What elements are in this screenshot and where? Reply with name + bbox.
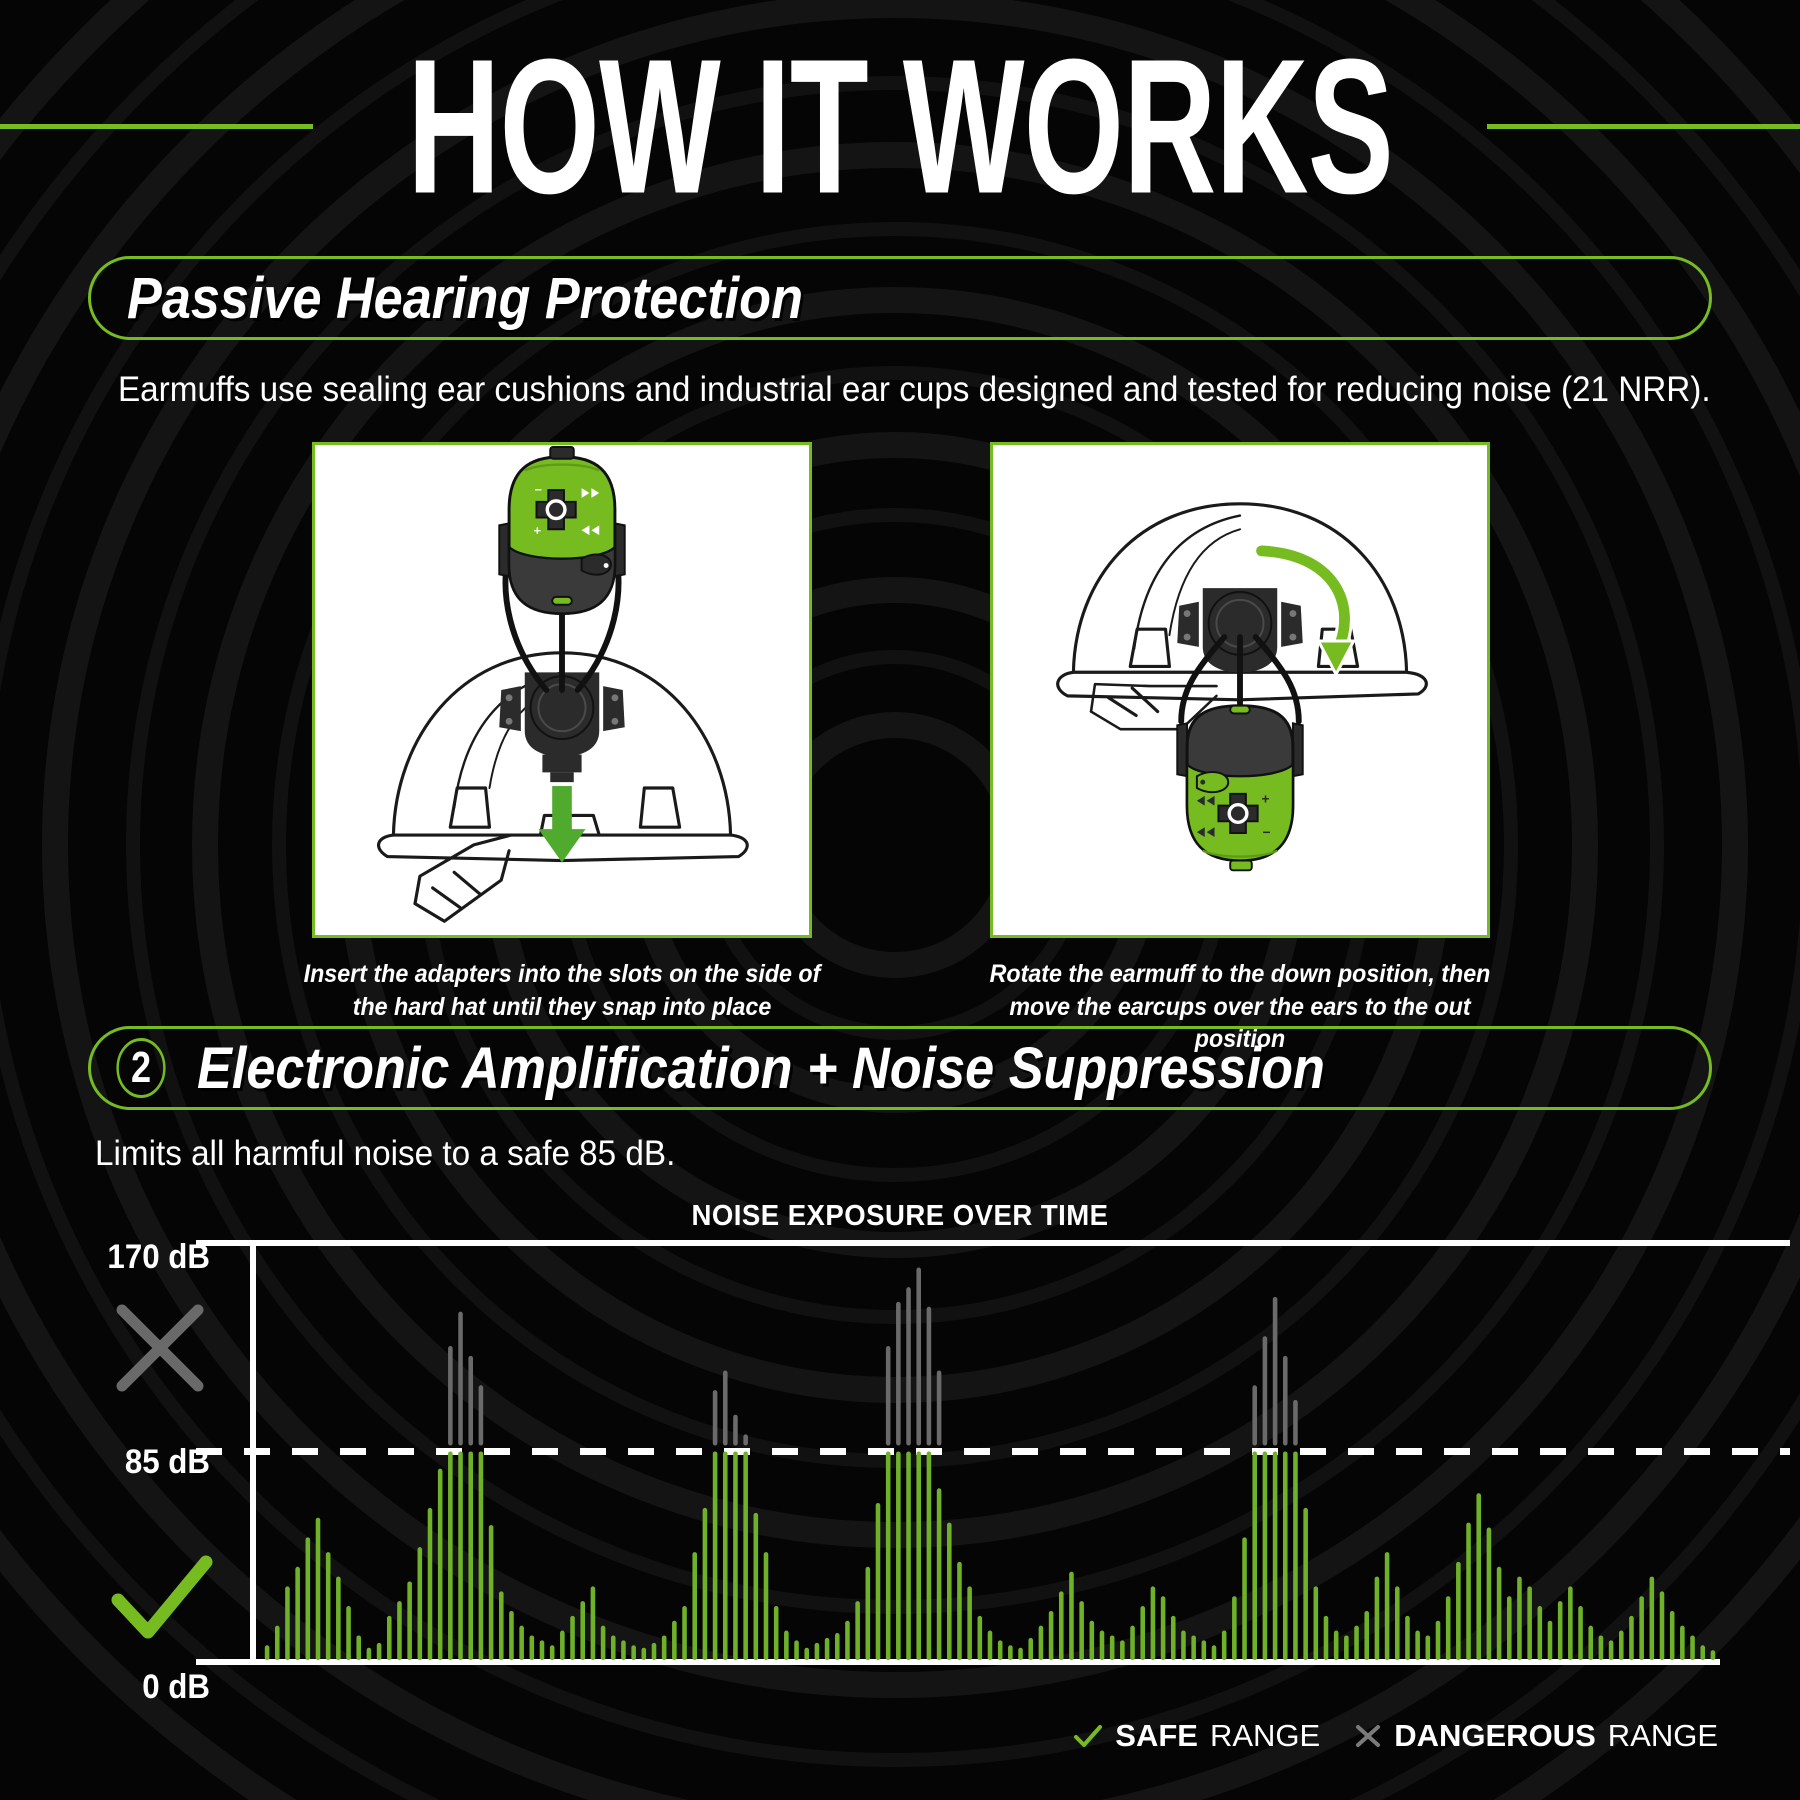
chart-bar-safe: [1283, 1452, 1288, 1661]
chart-bar-dangerous: [448, 1346, 453, 1445]
chart-bar-safe: [754, 1513, 759, 1660]
chart-bar-dangerous: [479, 1385, 484, 1445]
chart-bar-safe: [906, 1452, 911, 1661]
chart-bar-safe: [916, 1452, 921, 1661]
chart-bar-safe: [733, 1452, 738, 1661]
chart-bar-safe: [1680, 1626, 1685, 1660]
title-rule-left: [0, 124, 313, 129]
chart-bar-safe: [1700, 1645, 1705, 1660]
chart-bar-safe: [1517, 1577, 1522, 1660]
chart-bar-safe: [1385, 1552, 1390, 1660]
svg-text:−: −: [535, 482, 542, 497]
chart-bar-safe: [1130, 1626, 1135, 1660]
chart-title: NOISE EXPOSURE OVER TIME: [45, 1200, 1755, 1233]
chart-bar-dangerous: [1263, 1336, 1268, 1445]
chart-bar-safe: [428, 1508, 433, 1660]
legend-item-dangerous: DANGEROUS RANGE: [1354, 1718, 1718, 1754]
section-header-passive: Passive Hearing Protection: [88, 256, 1712, 340]
caption-line-1: Insert the adapters into the slots on th…: [302, 958, 823, 991]
section-title-electronic: Electronic Amplification + Noise Suppres…: [197, 1035, 1325, 1102]
chart-bar-safe: [1375, 1577, 1380, 1660]
chart-bar-dangerous: [713, 1390, 718, 1445]
chart-bar-safe: [1670, 1611, 1675, 1660]
chart-bar-safe: [1151, 1586, 1156, 1660]
chart-bar-safe: [1293, 1452, 1298, 1661]
chart-bar-safe: [479, 1452, 484, 1661]
chart-bar-safe: [672, 1621, 677, 1660]
noise-exposure-chart: [0, 1240, 1800, 1700]
chart-bar-dangerous: [733, 1415, 738, 1446]
chart-bar-safe: [835, 1633, 840, 1660]
chart-bar-safe: [957, 1562, 962, 1660]
x-icon: [1354, 1723, 1382, 1749]
chart-bar-safe: [1446, 1596, 1451, 1660]
chart-bar-safe: [1120, 1640, 1125, 1660]
chart-bar-dangerous: [723, 1371, 728, 1446]
chart-bar-safe: [876, 1503, 881, 1660]
chart-bar-safe: [723, 1452, 728, 1661]
chart-bar-safe: [804, 1648, 809, 1660]
illustration-rotate-earmuff: + −: [990, 442, 1490, 938]
chart-bar-safe: [1090, 1621, 1095, 1660]
illustration-caption-insert: Insert the adapters into the slots on th…: [302, 958, 823, 1023]
page-title: HOW IT WORKS: [402, 30, 1398, 222]
chart-bar-safe: [1619, 1631, 1624, 1660]
chart-bar-safe: [448, 1452, 453, 1661]
chart-bar-safe: [1497, 1567, 1502, 1660]
chart-bar-safe: [652, 1643, 657, 1660]
chart-bar-safe: [1344, 1635, 1349, 1660]
chart-bar-safe: [1629, 1616, 1634, 1660]
chart-bar-safe: [1273, 1452, 1278, 1661]
chart-bar-safe: [367, 1648, 372, 1660]
chart-bar-safe: [978, 1616, 983, 1660]
chart-bar-dangerous: [927, 1307, 932, 1446]
section-number-badge: 2: [116, 1038, 165, 1098]
chart-bar-safe: [1538, 1606, 1543, 1660]
chart-bar-safe: [1018, 1648, 1023, 1660]
chart-bar-safe: [316, 1518, 321, 1660]
chart-bar-safe: [1456, 1562, 1461, 1660]
chart-bar-dangerous: [937, 1371, 942, 1446]
chart-bar-dangerous: [743, 1434, 748, 1445]
chart-bar-safe: [540, 1640, 545, 1660]
chart-bar-safe: [458, 1452, 463, 1661]
chart-bar-safe: [1588, 1626, 1593, 1660]
chart-bar-safe: [1711, 1650, 1716, 1660]
chart-bar-dangerous: [1293, 1400, 1298, 1446]
legend-item-safe: SAFE RANGE: [1073, 1718, 1320, 1754]
chart-bar-dangerous: [468, 1356, 473, 1446]
chart-bar-safe: [1354, 1626, 1359, 1660]
chart-bar-safe: [1110, 1635, 1115, 1660]
chart-bar-safe: [1650, 1577, 1655, 1660]
chart-bar-safe: [265, 1645, 270, 1660]
chart-bar-safe: [1140, 1606, 1145, 1660]
chart-bar-safe: [1405, 1616, 1410, 1660]
chart-bar-safe: [591, 1586, 596, 1660]
section-header-electronic: 2 Electronic Amplification + Noise Suppr…: [88, 1026, 1712, 1110]
chart-bar-safe: [1660, 1591, 1665, 1660]
chart-bar-safe: [784, 1631, 789, 1660]
chart-bar-safe: [1028, 1638, 1033, 1660]
chart-bar-safe: [295, 1567, 300, 1660]
chart-bar-safe: [550, 1645, 555, 1660]
chart-bar-safe: [937, 1488, 942, 1660]
page-title-row: HOW IT WORKS: [0, 46, 1800, 206]
chart-bar-dangerous: [906, 1287, 911, 1445]
chart-bar-dangerous: [916, 1268, 921, 1446]
chart-bar-safe: [1161, 1596, 1166, 1660]
chart-bar-safe: [438, 1469, 443, 1660]
chart-bar-safe: [1303, 1508, 1308, 1660]
chart-bar-safe: [1639, 1596, 1644, 1660]
chart-bar-safe: [764, 1552, 769, 1660]
chart-bar-safe: [1690, 1635, 1695, 1660]
chart-bar-safe: [1426, 1635, 1431, 1660]
chart-bar-safe: [1436, 1621, 1441, 1660]
check-icon: [1073, 1723, 1103, 1749]
chart-bar-safe: [1171, 1616, 1176, 1660]
section-title-passive: Passive Hearing Protection: [127, 265, 803, 332]
legend-dangerous-strong: DANGEROUS: [1394, 1718, 1596, 1754]
legend-safe-strong: SAFE: [1115, 1718, 1198, 1754]
chart-bar-safe: [336, 1577, 341, 1660]
chart-bar-safe: [886, 1452, 891, 1661]
svg-text:+: +: [1262, 792, 1270, 807]
chart-bar-safe: [1599, 1635, 1604, 1660]
chart-bar-safe: [489, 1525, 494, 1660]
chart-bar-safe: [1079, 1601, 1084, 1660]
chart-bar-safe: [468, 1452, 473, 1661]
chart-bar-safe: [1548, 1621, 1553, 1660]
chart-bar-safe: [713, 1452, 718, 1661]
chart-bar-safe: [611, 1635, 616, 1660]
chart-bar-safe: [326, 1552, 331, 1660]
chart-bar-safe: [377, 1643, 382, 1660]
chart-bar-safe: [1202, 1640, 1207, 1660]
chart-bar-safe: [1507, 1596, 1512, 1660]
legend-safe-light: RANGE: [1210, 1718, 1320, 1754]
chart-bar-safe: [927, 1452, 932, 1661]
chart-bar-dangerous: [1252, 1385, 1257, 1445]
chart-bar-safe: [1252, 1452, 1257, 1661]
illustration-insert-adapters: − +: [312, 442, 812, 938]
title-rule-right: [1487, 124, 1800, 129]
legend-dangerous-light: RANGE: [1608, 1718, 1718, 1754]
chart-bar-safe: [1039, 1626, 1044, 1660]
chart-bar-safe: [418, 1547, 423, 1660]
chart-bar-safe: [306, 1537, 311, 1660]
chart-bar-safe: [631, 1645, 636, 1660]
chart-bar-safe: [499, 1591, 504, 1660]
section-body-passive: Earmuffs use sealing ear cushions and in…: [118, 370, 1711, 410]
chart-bar-safe: [1476, 1493, 1481, 1660]
chart-bar-safe: [825, 1638, 830, 1660]
chart-bar-safe: [845, 1621, 850, 1660]
chart-bar-safe: [1334, 1631, 1339, 1660]
chart-bar-safe: [1527, 1586, 1532, 1660]
chart-bar-safe: [967, 1586, 972, 1660]
section-body-electronic: Limits all harmful noise to a safe 85 dB…: [95, 1134, 675, 1174]
chart-bar-safe: [1578, 1606, 1583, 1660]
chart-bar-safe: [1222, 1631, 1227, 1660]
chart-bar-dangerous: [1273, 1297, 1278, 1446]
chart-bar-safe: [530, 1635, 535, 1660]
chart-bar-safe: [855, 1601, 860, 1660]
chart-bar-safe: [692, 1552, 697, 1660]
chart-bar-safe: [743, 1452, 748, 1661]
chart-bar-safe: [1466, 1523, 1471, 1660]
chart-bar-safe: [519, 1626, 524, 1660]
chart-bar-safe: [682, 1606, 687, 1660]
chart-bar-safe: [1395, 1586, 1400, 1660]
chart-bar-safe: [1558, 1601, 1563, 1660]
chart-bar-dangerous: [458, 1312, 463, 1446]
chart-bar-safe: [397, 1601, 402, 1660]
chart-bar-safe: [356, 1635, 361, 1660]
chart-bar-safe: [570, 1616, 575, 1660]
chart-bar-safe: [509, 1611, 514, 1660]
chart-bar-safe: [794, 1640, 799, 1660]
chart-bar-safe: [1415, 1631, 1420, 1660]
chart-bar-safe: [988, 1631, 993, 1660]
chart-bar-dangerous: [1283, 1356, 1288, 1446]
svg-text:+: +: [534, 523, 541, 538]
chart-bar-safe: [1212, 1645, 1217, 1660]
chart-bar-safe: [580, 1601, 585, 1660]
chart-bar-safe: [1069, 1572, 1074, 1660]
chart-bar-safe: [1609, 1640, 1614, 1660]
chart-bar-safe: [703, 1508, 708, 1660]
chart-bar-safe: [662, 1635, 667, 1660]
chart-bar-safe: [387, 1616, 392, 1660]
chart-bar-safe: [774, 1606, 779, 1660]
chart-bar-safe: [346, 1606, 351, 1660]
chart-bar-safe: [560, 1631, 565, 1660]
chart-bar-safe: [1059, 1591, 1064, 1660]
chart-bar-safe: [1181, 1631, 1186, 1660]
chart-bar-safe: [1232, 1596, 1237, 1660]
chart-bar-safe: [1242, 1537, 1247, 1660]
chart-bar-safe: [947, 1523, 952, 1660]
chart-bar-safe: [601, 1626, 606, 1660]
chart-bar-safe: [1364, 1611, 1369, 1660]
chart-bar-safe: [815, 1643, 820, 1660]
caption-line-2: the hard hat until they snap into place: [302, 991, 823, 1024]
chart-bar-safe: [896, 1452, 901, 1661]
chart-bar-safe: [275, 1626, 280, 1660]
chart-bar-safe: [1487, 1528, 1492, 1660]
chart-bar-safe: [1100, 1631, 1105, 1660]
chart-bar-safe: [1324, 1616, 1329, 1660]
chart-bar-safe: [285, 1586, 290, 1660]
chart-bar-dangerous: [896, 1302, 901, 1446]
chart-bar-safe: [407, 1582, 412, 1660]
chart-bar-safe: [1568, 1586, 1573, 1660]
chart-bar-safe: [642, 1648, 647, 1660]
chart-bar-safe: [1314, 1586, 1319, 1660]
chart-bar-safe: [1008, 1645, 1013, 1660]
chart-bar-dangerous: [886, 1346, 891, 1445]
chart-bar-safe: [998, 1640, 1003, 1660]
svg-text:−: −: [1263, 825, 1271, 840]
chart-bar-safe: [866, 1567, 871, 1660]
caption-line-1: Rotate the earmuff to the down position,…: [980, 958, 1501, 991]
chart-bar-safe: [1049, 1611, 1054, 1660]
chart-legend: SAFE RANGE DANGEROUS RANGE: [1073, 1718, 1718, 1754]
chart-bar-safe: [1263, 1452, 1268, 1661]
chart-bar-safe: [1191, 1635, 1196, 1660]
chart-bar-safe: [621, 1640, 626, 1660]
